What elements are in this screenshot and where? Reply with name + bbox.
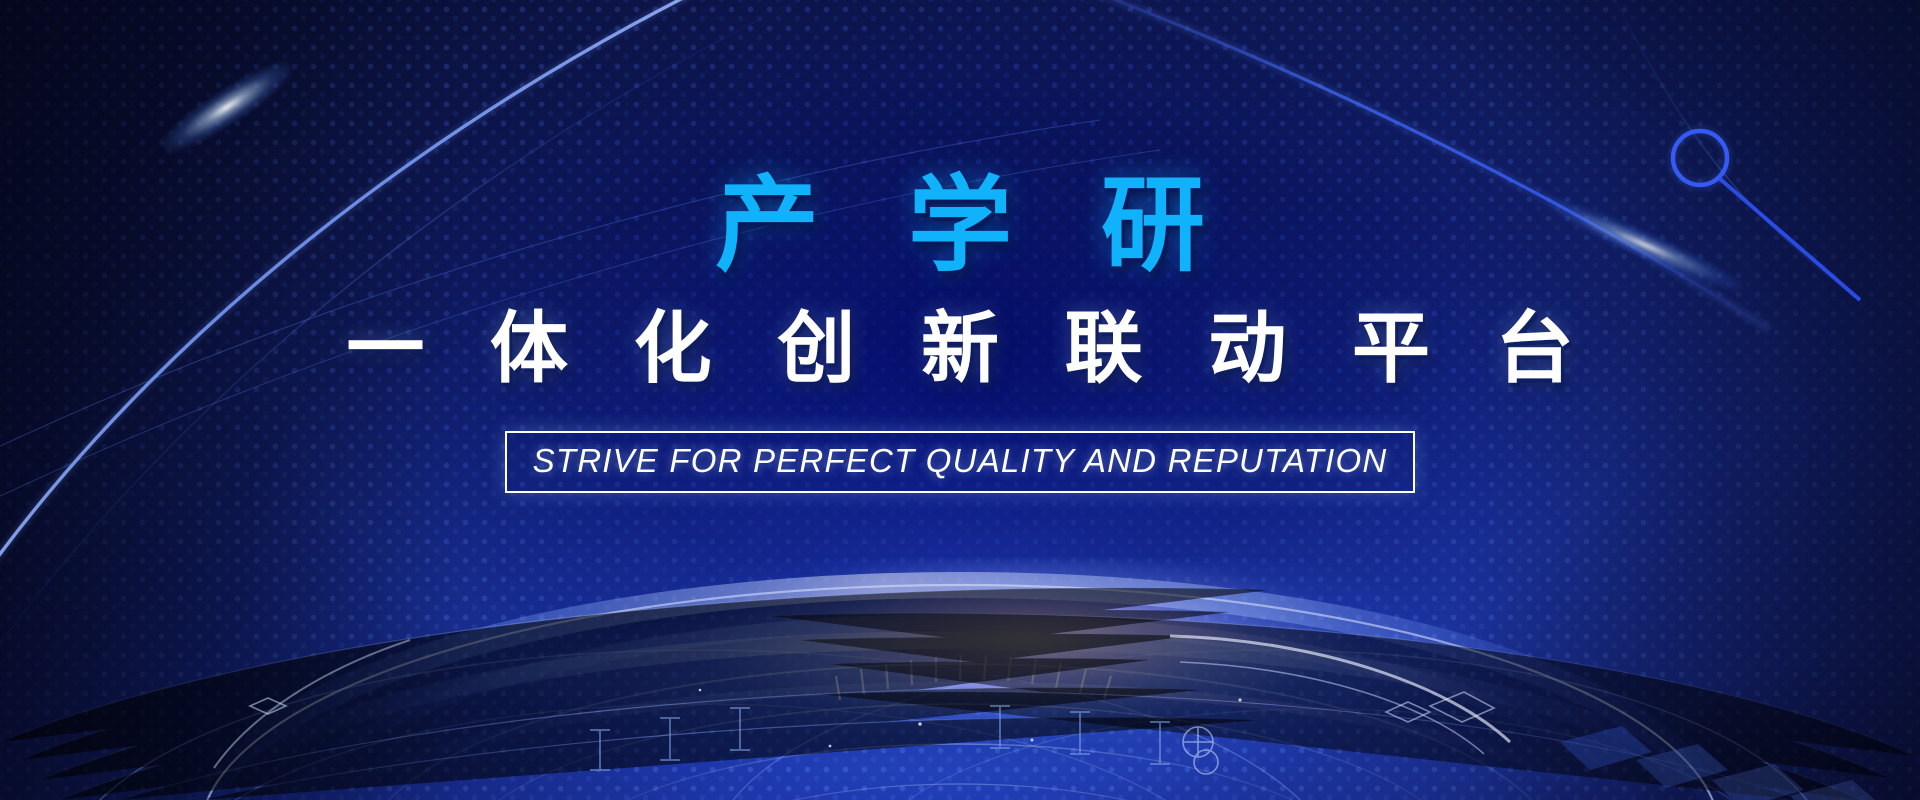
concentric-rings — [0, 585, 1915, 800]
page-title-main: 产 学 研 — [0, 168, 1920, 284]
banner-root: 产 学 研 一 体 化 创 新 联 动 平 台 STRIVE FOR PERFE… — [0, 0, 1920, 800]
english-tagline: STRIVE FOR PERFECT QUALITY AND REPUTATIO… — [533, 442, 1388, 480]
page-title-sub: 一 体 化 创 新 联 动 平 台 — [0, 302, 1920, 394]
headline-block: 产 学 研 一 体 化 创 新 联 动 平 台 STRIVE FOR PERFE… — [0, 168, 1920, 493]
english-tagline-frame: STRIVE FOR PERFECT QUALITY AND REPUTATIO… — [505, 431, 1416, 493]
